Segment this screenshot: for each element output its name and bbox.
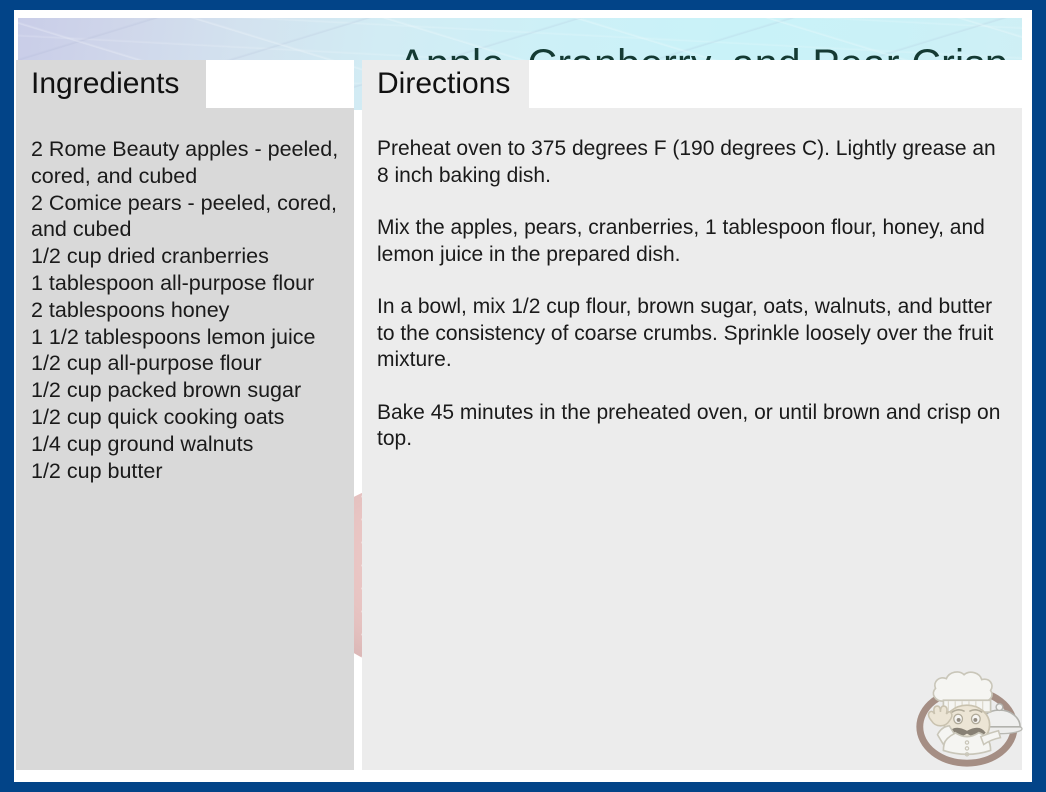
recipe-slide: Apple, Cranberry, and Pear Crisp Ingredi…: [0, 0, 1046, 792]
list-item: 1 tablespoon all-purpose flour: [31, 270, 340, 297]
ingredients-header-tab: Ingredients: [16, 60, 206, 108]
directions-header-tab: Directions: [362, 60, 529, 108]
directions-body: Preheat oven to 375 degrees F (190 degre…: [362, 108, 1022, 770]
list-item: 1/4 cup ground walnuts: [31, 431, 340, 458]
direction-step-list: Preheat oven to 375 degrees F (190 degre…: [377, 136, 1008, 453]
ingredients-tab-filler: [206, 60, 354, 108]
list-item: Preheat oven to 375 degrees F (190 degre…: [377, 136, 1008, 189]
directions-tab-filler: [529, 60, 1022, 108]
list-item: 2 Rome Beauty apples - peeled, cored, an…: [31, 136, 340, 190]
list-item: 1/2 cup dried cranberries: [31, 243, 340, 270]
list-item: 1/2 cup all-purpose flour: [31, 350, 340, 377]
directions-heading: Directions: [377, 69, 510, 99]
list-item: Mix the apples, pears, cranberries, 1 ta…: [377, 215, 1008, 268]
list-item: 1/2 cup packed brown sugar: [31, 377, 340, 404]
ingredients-body: 2 Rome Beauty apples - peeled, cored, an…: [16, 108, 354, 770]
ingredient-list: 2 Rome Beauty apples - peeled, cored, an…: [31, 136, 340, 484]
list-item: 2 tablespoons honey: [31, 297, 340, 324]
list-item: Bake 45 minutes in the preheated oven, o…: [377, 400, 1008, 453]
slide-inner-page: Apple, Cranberry, and Pear Crisp Ingredi…: [14, 10, 1032, 782]
list-item: 1/2 cup butter: [31, 458, 340, 485]
list-item: 1 1/2 tablespoons lemon juice: [31, 324, 340, 351]
list-item: 1/2 cup quick cooking oats: [31, 404, 340, 431]
list-item: 2 Comice pears - peeled, cored, and cube…: [31, 190, 340, 244]
list-item: In a bowl, mix 1/2 cup flour, brown suga…: [377, 294, 1008, 374]
directions-panel: Directions Preheat oven to 375 degrees F…: [362, 60, 1022, 770]
ingredients-panel: Ingredients 2 Rome Beauty apples - peele…: [16, 60, 354, 770]
ingredients-heading: Ingredients: [31, 69, 179, 99]
